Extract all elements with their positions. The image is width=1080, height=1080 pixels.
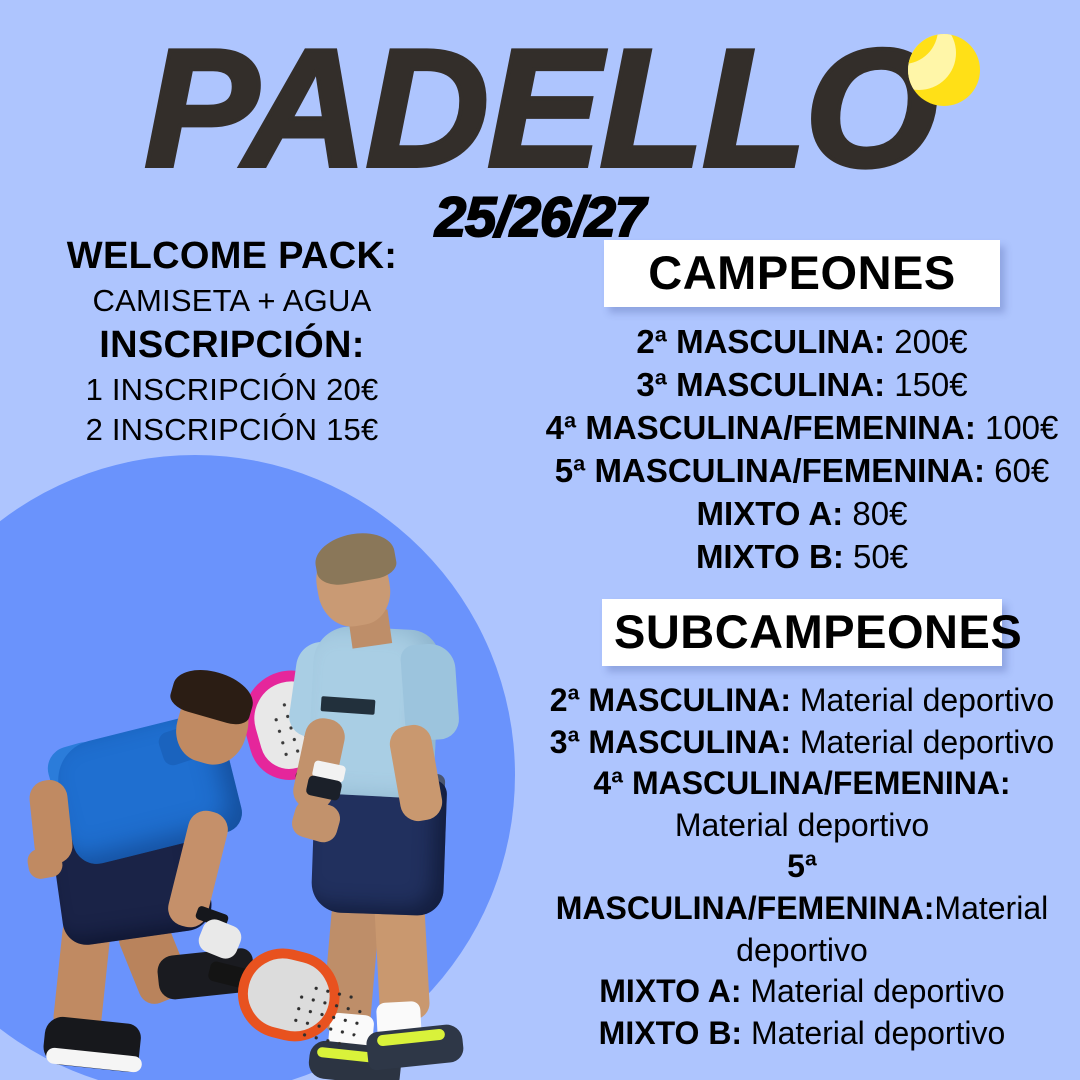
- prize-row: 5ª MASCULINA/FEMENINA:Material deportivo: [540, 846, 1064, 971]
- prize-value: Material deportivo: [675, 807, 929, 843]
- prize-category: 4ª MASCULINA/FEMENINA:: [593, 765, 1010, 801]
- prize-row: 2ª MASCULINA: Material deportivo: [540, 680, 1064, 722]
- subcampeones-banner: SUBCAMPEONES: [602, 599, 1002, 666]
- prize-value: 100€: [976, 409, 1059, 446]
- players-photo: [0, 500, 600, 1080]
- campeones-list: 2ª MASCULINA: 200€3ª MASCULINA: 150€4ª M…: [540, 321, 1064, 578]
- tennis-ball-icon: [908, 34, 980, 106]
- spacer: [540, 579, 1064, 599]
- prize-value: 80€: [843, 495, 907, 532]
- prize-category: 5ª MASCULINA/FEMENINA:: [556, 848, 935, 926]
- prize-row: 4ª MASCULINA/FEMENINA: Material deportiv…: [540, 763, 1064, 846]
- prize-category: 2ª MASCULINA:: [550, 682, 791, 718]
- prize-row: 3ª MASCULINA: Material deportivo: [540, 722, 1064, 764]
- prize-category: MIXTO B:: [696, 538, 844, 575]
- prize-category: 3ª MASCULINA:: [550, 724, 791, 760]
- welcome-pack-block: WELCOME PACK: CAMISETA + AGUA INSCRIPCIÓ…: [22, 232, 442, 450]
- prize-row: MIXTO B: 50€: [540, 536, 1064, 579]
- prize-category: 3ª MASCULINA:: [636, 366, 885, 403]
- prize-row: MIXTO A: 80€: [540, 493, 1064, 536]
- inscripcion-price-2: 2 INSCRIPCIÓN 15€: [22, 410, 442, 450]
- inscripcion-price-1: 1 INSCRIPCIÓN 20€: [22, 370, 442, 410]
- prize-value: Material deportivo: [742, 1015, 1005, 1051]
- subcampeones-list: 2ª MASCULINA: Material deportivo3ª MASCU…: [540, 680, 1064, 1054]
- prize-row: 3ª MASCULINA: 150€: [540, 364, 1064, 407]
- prizes-column: CAMPEONES 2ª MASCULINA: 200€3ª MASCULINA…: [540, 240, 1064, 1054]
- prize-category: 5ª MASCULINA/FEMENINA:: [555, 452, 985, 489]
- prize-row: 5ª MASCULINA/FEMENINA: 60€: [540, 450, 1064, 493]
- page-title: PADELLO: [144, 24, 936, 192]
- welcome-pack-heading: WELCOME PACK:: [22, 232, 442, 281]
- prize-value: 150€: [885, 366, 968, 403]
- prize-row: 2ª MASCULINA: 200€: [540, 321, 1064, 364]
- prize-row: MIXTO A: Material deportivo: [540, 971, 1064, 1013]
- prize-category: MIXTO A:: [599, 973, 741, 1009]
- prize-row: MIXTO B: Material deportivo: [540, 1013, 1064, 1055]
- prize-value: 50€: [844, 538, 908, 575]
- prize-category: 2ª MASCULINA:: [636, 323, 885, 360]
- prize-value: Material deportivo: [791, 682, 1054, 718]
- welcome-pack-detail: CAMISETA + AGUA: [22, 281, 442, 321]
- prize-value: 200€: [885, 323, 968, 360]
- orange-racket-icon: [197, 931, 349, 1053]
- prize-category: MIXTO A:: [697, 495, 844, 532]
- prize-value: Material deportivo: [741, 973, 1004, 1009]
- poster-canvas: PADELLO 25/26/27 WELCOME PACK: CAMISETA …: [0, 0, 1080, 1080]
- campeones-banner: CAMPEONES: [604, 240, 1000, 307]
- racket-face: [228, 939, 349, 1051]
- left-player-figure: [10, 660, 340, 1080]
- inscripcion-heading: INSCRIPCIÓN:: [22, 321, 442, 370]
- prize-row: 4ª MASCULINA/FEMENINA: 100€: [540, 407, 1064, 450]
- prize-category: 4ª MASCULINA/FEMENINA:: [546, 409, 976, 446]
- prize-category: MIXTO B:: [599, 1015, 742, 1051]
- prize-value: Material deportivo: [791, 724, 1054, 760]
- prize-value: 60€: [985, 452, 1049, 489]
